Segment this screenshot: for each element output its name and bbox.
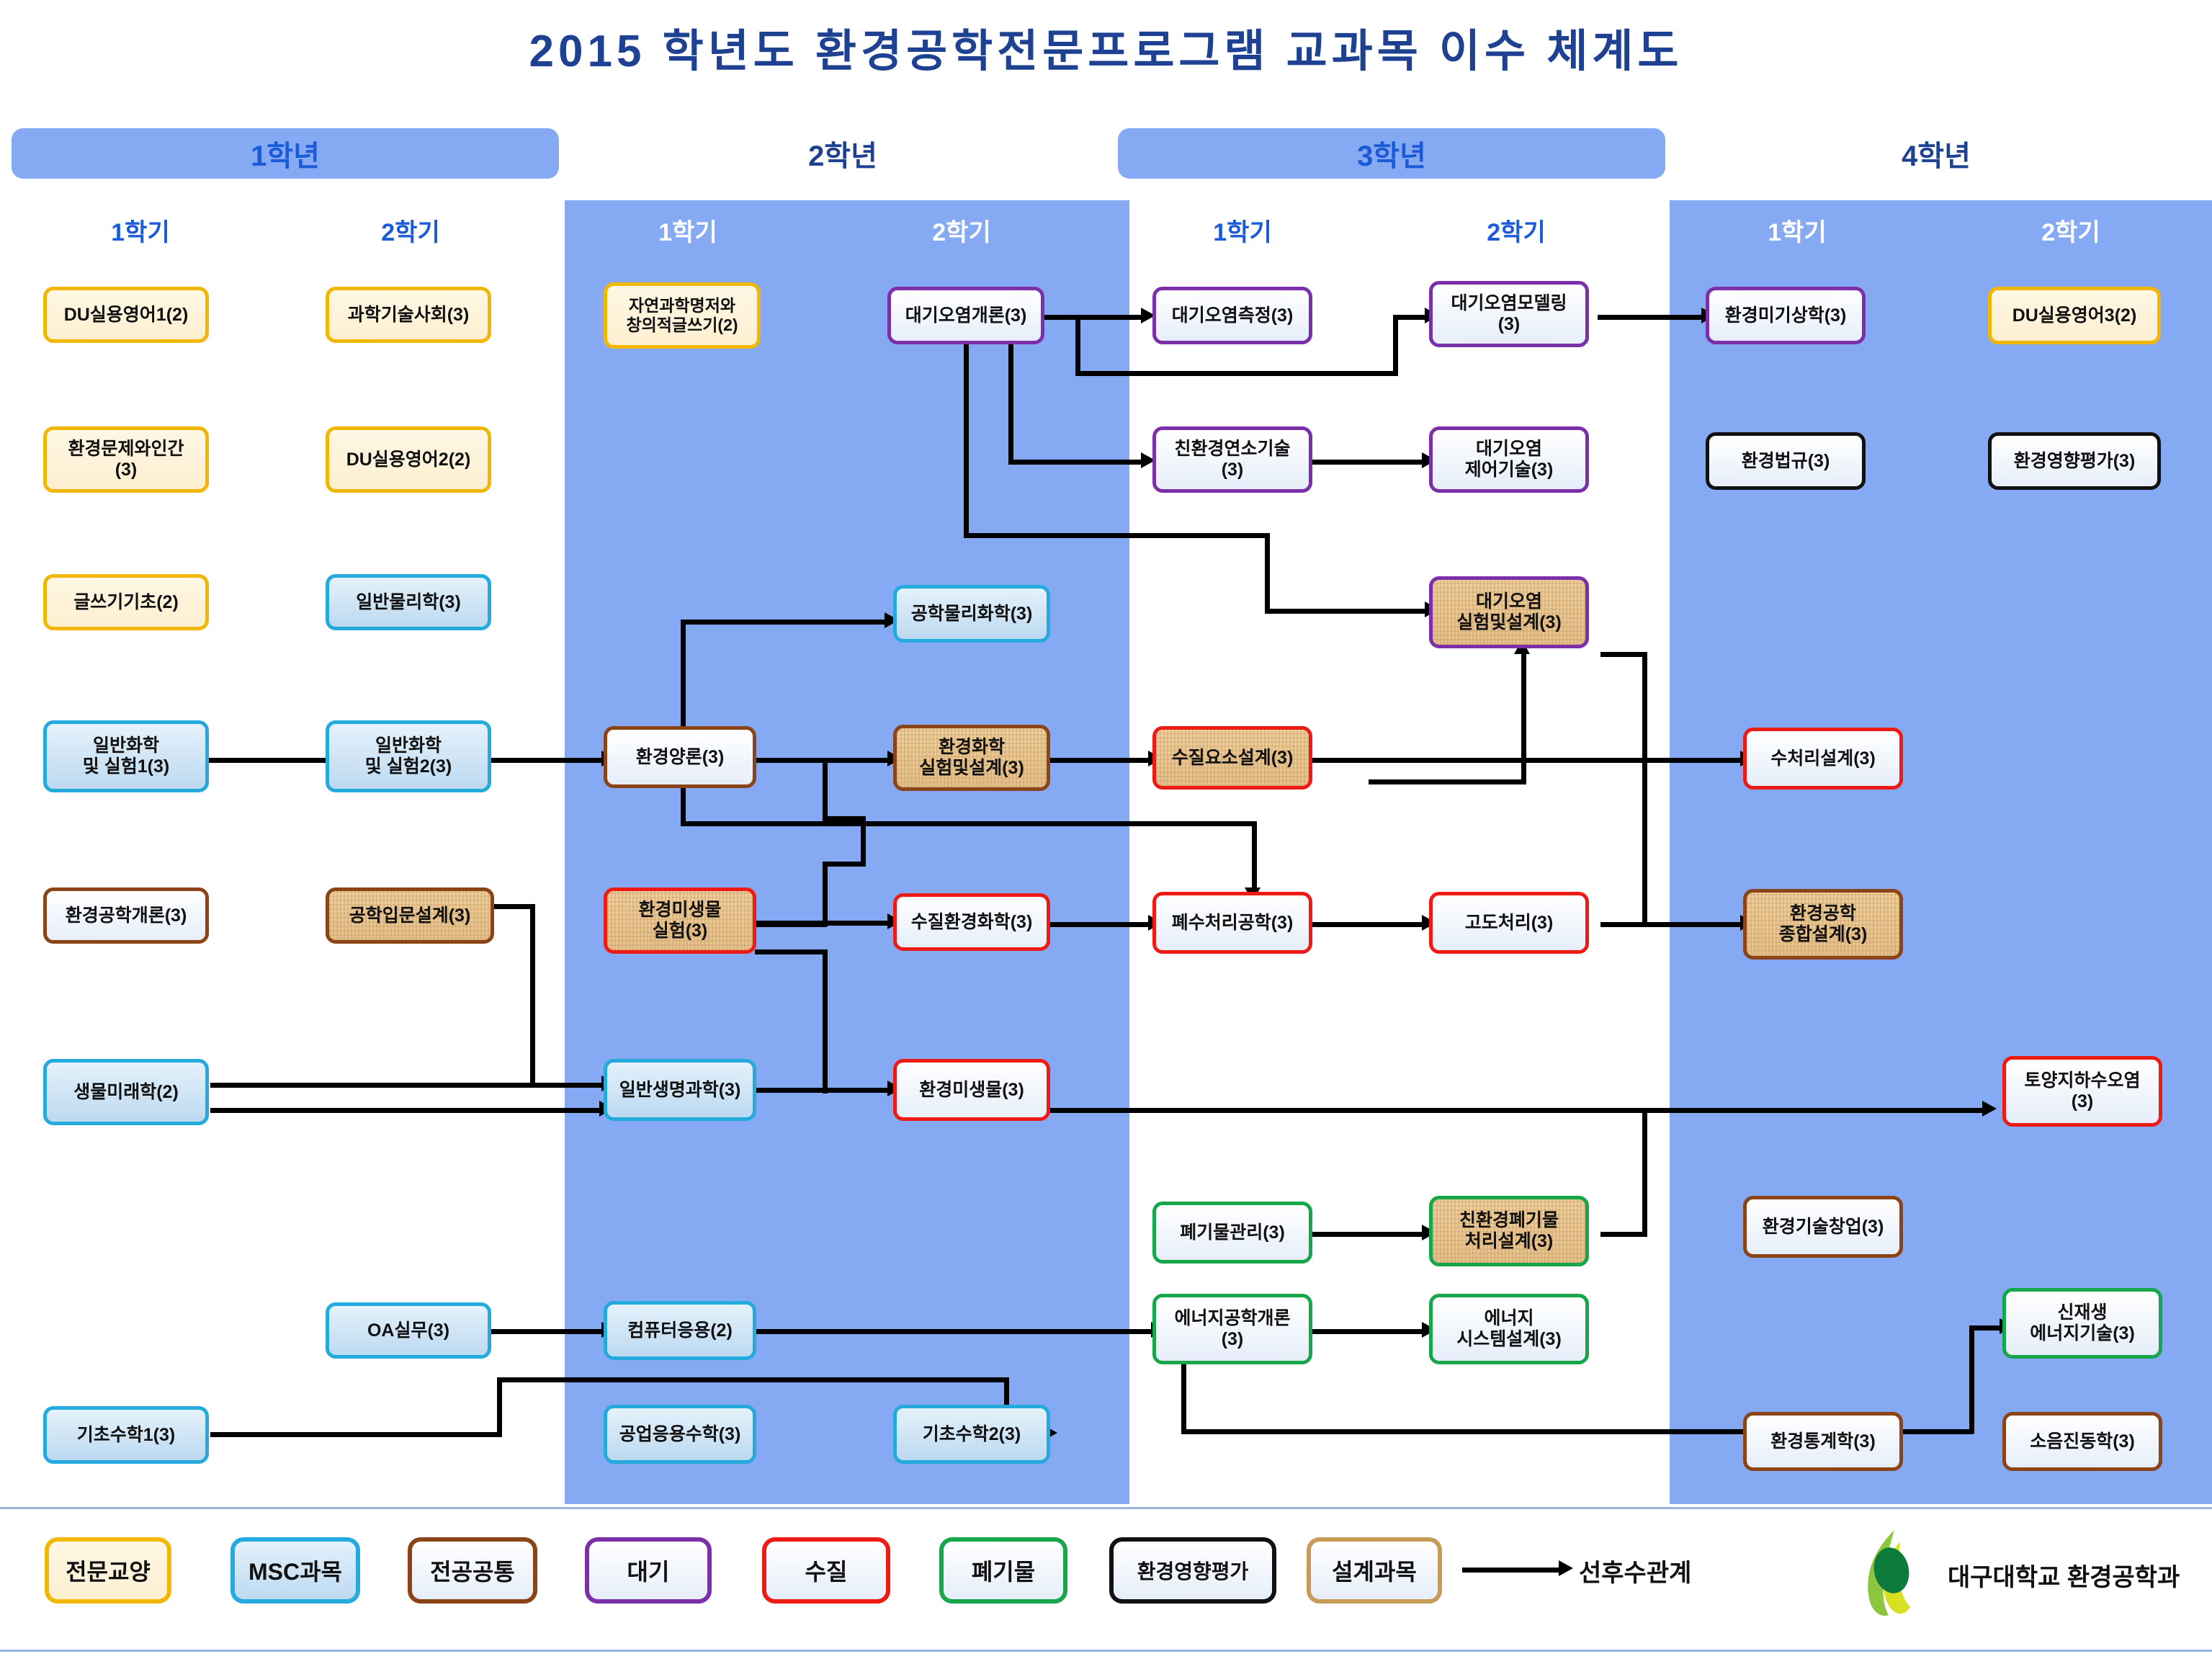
legend-item-water: 수질 <box>762 1537 890 1604</box>
course-box[interactable]: 공학입문설계(3) <box>326 887 494 944</box>
course-box[interactable]: 에너지공학개론 (3) <box>1152 1294 1312 1364</box>
course-box[interactable]: 수질환경화학(3) <box>893 893 1050 951</box>
course-box[interactable]: 일반생명과학(3) <box>604 1059 756 1121</box>
year-label: 4학년 <box>1902 133 1971 174</box>
sem-text: 2학기 <box>381 219 439 246</box>
course-box[interactable]: 환경영향평가(3) <box>1988 432 2161 490</box>
course-box[interactable]: 환경미기상학(3) <box>1706 287 1866 344</box>
course-box[interactable]: 대기오염모델링 (3) <box>1429 281 1589 347</box>
course-box[interactable]: 생물미래학(2) <box>43 1059 209 1125</box>
course-box[interactable]: 토양지하수오염 (3) <box>2002 1056 2162 1127</box>
course-box[interactable]: DU실용영어3(2) <box>1988 287 2161 344</box>
course-box[interactable]: 기초수학1(3) <box>43 1406 209 1464</box>
course-box[interactable]: DU실용영어1(2) <box>43 287 209 343</box>
course-box[interactable]: 수질요소설계(3) <box>1152 726 1312 790</box>
course-box[interactable]: 수처리설계(3) <box>1743 728 1903 790</box>
course-box[interactable]: 고도처리(3) <box>1429 892 1589 954</box>
sem-text: 2학기 <box>1487 219 1545 246</box>
legend-item-general: 전문교양 <box>45 1537 171 1604</box>
course-box[interactable]: 대기오염측정(3) <box>1152 287 1312 344</box>
course-box[interactable]: 대기오염개론(3) <box>887 287 1044 344</box>
semester-label-y2s2: 2학기 <box>850 213 1073 248</box>
course-box[interactable]: 친환경연소기술 (3) <box>1152 426 1312 493</box>
sem-text: 1학기 <box>111 219 169 246</box>
semester-label-y3s2: 2학기 <box>1405 213 1628 248</box>
year-label: 1학년 <box>251 133 320 174</box>
course-box[interactable]: 환경화학 실험및설계(3) <box>893 725 1050 791</box>
legend-item-eia: 환경영향평가 <box>1109 1537 1276 1604</box>
year-label: 2학년 <box>808 133 877 174</box>
sem-text: 1학기 <box>1213 219 1271 246</box>
year-label: 3학년 <box>1357 133 1426 174</box>
year-header-1: 1학년 <box>12 128 559 179</box>
course-box[interactable]: 환경공학개론(3) <box>43 887 209 944</box>
legend-divider-bottom <box>0 1650 2212 1652</box>
year-header-2: 2학년 <box>569 128 1116 179</box>
university-logo-icon <box>1844 1526 1938 1619</box>
course-box[interactable]: 일반화학 및 실험2(3) <box>326 720 491 792</box>
semester-label-y4s1: 1학기 <box>1685 213 1909 248</box>
semester-label-y1s1: 1학기 <box>29 213 252 248</box>
legend-item-waste: 폐기물 <box>939 1537 1067 1604</box>
legend-divider-top <box>0 1507 2212 1509</box>
course-box[interactable]: 환경문제와인간 (3) <box>43 426 209 493</box>
legend-item-core: 전공공통 <box>408 1537 537 1604</box>
legend-item-design: 설계과목 <box>1307 1537 1442 1604</box>
course-box[interactable]: 컴퓨터응용(2) <box>604 1301 756 1360</box>
course-box[interactable]: 기초수학2(3) <box>893 1405 1050 1464</box>
course-box[interactable]: OA실무(3) <box>326 1302 491 1359</box>
course-box[interactable]: DU실용영어2(2) <box>326 426 491 493</box>
course-box[interactable]: 과학기술사회(3) <box>326 287 491 343</box>
year-header-4: 4학년 <box>1670 128 2203 179</box>
course-box[interactable]: 폐기물관리(3) <box>1152 1202 1312 1264</box>
course-box[interactable]: 친환경폐기물 처리설계(3) <box>1429 1196 1589 1266</box>
semester-label-y3s1: 1학기 <box>1131 213 1354 248</box>
legend-item-msc: MSC과목 <box>230 1537 360 1604</box>
course-box[interactable]: 환경양론(3) <box>604 726 756 788</box>
legend-arrow-head <box>1559 1560 1573 1576</box>
course-box[interactable]: 에너지 시스템설계(3) <box>1429 1294 1589 1364</box>
sem-text: 1학기 <box>658 219 717 246</box>
page-title: 2015 학년도 환경공학전문프로그램 교과목 이수 체계도 <box>0 14 2212 79</box>
course-box[interactable]: 환경공학 종합설계(3) <box>1743 889 1903 960</box>
legend-arrow-line <box>1462 1568 1563 1573</box>
course-box[interactable]: 공학물리화학(3) <box>893 585 1050 643</box>
course-box[interactable]: 환경통계학(3) <box>1743 1412 1903 1471</box>
sem-text: 2학기 <box>932 219 990 246</box>
course-box[interactable]: 폐수처리공학(3) <box>1152 892 1312 954</box>
legend-relation-label: 선후수관계 <box>1579 1553 1691 1588</box>
legend-item-air: 대기 <box>585 1537 712 1604</box>
department-label: 대구대학교 환경공학과 <box>1948 1557 2180 1593</box>
semester-label-y4s2: 2학기 <box>1959 213 2182 248</box>
semester-label-y2s1: 1학기 <box>576 213 800 248</box>
semester-label-y1s2: 2학기 <box>299 213 522 248</box>
course-box[interactable]: 글쓰기기초(2) <box>43 574 209 630</box>
sem-text: 2학기 <box>2041 219 2100 246</box>
course-box[interactable]: 자연과학명저와 창의적글쓰기(2) <box>604 282 761 349</box>
course-box[interactable]: 대기오염 실험및설계(3) <box>1429 576 1589 648</box>
course-box[interactable]: 일반화학 및 실험1(3) <box>43 720 209 792</box>
year-header-3: 3학년 <box>1118 128 1665 179</box>
course-box[interactable]: 환경법규(3) <box>1706 432 1866 490</box>
course-box[interactable]: 대기오염 제어기술(3) <box>1429 426 1589 493</box>
course-box[interactable]: 공업응용수학(3) <box>604 1405 756 1464</box>
course-box[interactable]: 소음진동학(3) <box>2002 1412 2162 1471</box>
course-box[interactable]: 일반물리학(3) <box>326 574 491 630</box>
course-box[interactable]: 환경미생물(3) <box>893 1059 1050 1121</box>
course-box[interactable]: 환경미생물 실험(3) <box>604 887 756 954</box>
sem-text: 1학기 <box>1768 219 1826 246</box>
course-box[interactable]: 신재생 에너지기술(3) <box>2002 1288 2162 1359</box>
course-box[interactable]: 환경기술창업(3) <box>1743 1196 1903 1258</box>
